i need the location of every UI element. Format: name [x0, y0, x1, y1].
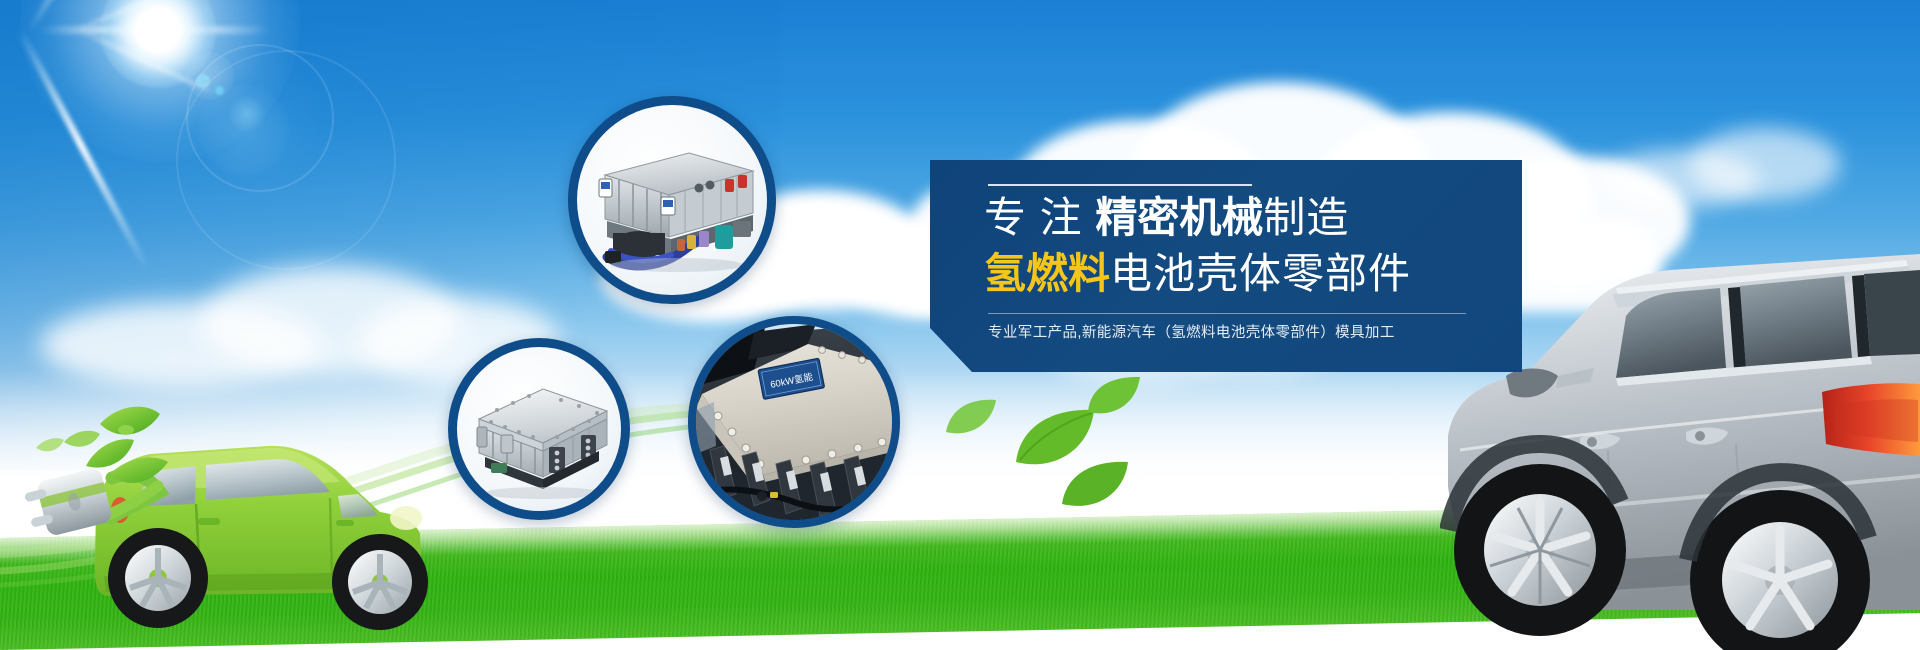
headline-line-2-rest: 电池壳体零部件	[1110, 250, 1411, 297]
hero-banner: 60kW氢能	[0, 0, 1920, 650]
leaf-icon	[1058, 456, 1132, 512]
lens-flare-circle	[228, 95, 266, 133]
headline-line-1-part-a: 专 注	[984, 194, 1095, 241]
leaf-icon	[944, 396, 1000, 440]
headline-bottom-rule	[988, 313, 1466, 314]
headline-line-2: 氢燃料电池壳体零部件	[984, 248, 1411, 300]
headline-panel: 专 注 精密机械制造 氢燃料电池壳体零部件 专业军工产品,新能源汽车（氢燃料电池…	[930, 160, 1522, 372]
cloud-bank	[1600, 120, 1850, 210]
headline-line-2-highlight: 氢燃料	[984, 250, 1110, 297]
leaf-icon	[1084, 372, 1144, 420]
product-circle-1[interactable]	[568, 96, 776, 304]
headline-line-1-part-b: 制造	[1263, 194, 1349, 241]
headline-line-1-strong: 精密机械	[1095, 194, 1263, 241]
lens-flare-dot	[196, 74, 210, 88]
product-circle-2[interactable]	[448, 338, 630, 520]
product-circle-3[interactable]: 60kW氢能	[688, 316, 900, 528]
headline-line-1: 专 注 精密机械制造	[984, 192, 1349, 244]
green-electric-car	[0, 400, 430, 650]
headline-top-rule	[988, 184, 1252, 186]
banner-subtitle: 专业军工产品,新能源汽车（氢燃料电池壳体零部件）模具加工	[988, 322, 1395, 344]
lens-flare-dot	[215, 86, 224, 95]
